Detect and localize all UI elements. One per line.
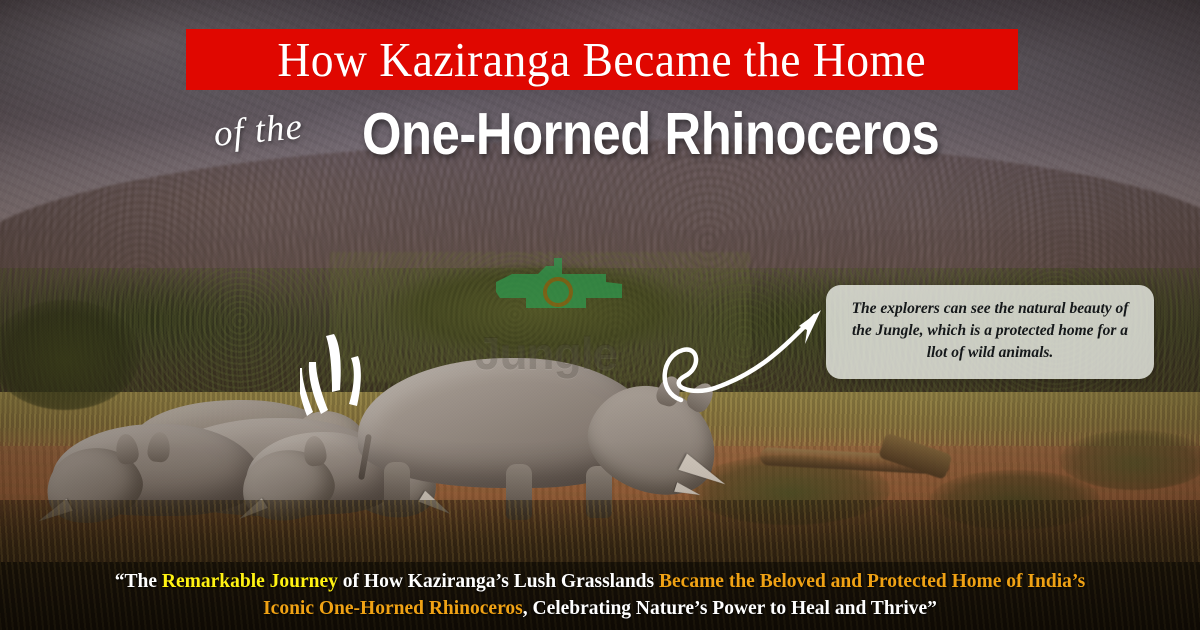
title-banner: How Kaziranga Became the Home [186, 29, 1018, 90]
caption-run-0: Iconic One-Horned Rhinoceros [263, 598, 523, 619]
claw-marks-icon [300, 328, 400, 428]
shrub-far-right [1060, 430, 1200, 490]
poster-canvas: Jungle The explorers can see the natural… [0, 0, 1200, 630]
caption-run-3: Became the Beloved and Protected Home of… [659, 571, 1085, 592]
caption-line-2: Iconic One-Horned Rhinoceros, Celebratin… [263, 596, 937, 623]
title-row-2: of the One-Horned Rhinoceros [0, 98, 1200, 170]
caption-run-2: of How Kaziranga’s Lush Grasslands [338, 571, 659, 592]
curly-arrow-icon [655, 300, 855, 410]
caption-line-1: “The Remarkable Journey of How Kaziranga… [115, 569, 1085, 596]
title-line-1: How Kaziranga Became the Home [278, 35, 927, 84]
caption-run-1: , Celebrating Nature’s Power to Heal and… [523, 598, 937, 619]
rhino-main [358, 358, 658, 488]
caption-run-1: Remarkable Journey [162, 571, 338, 592]
caption-bar: “The Remarkable Journey of How Kaziranga… [0, 562, 1200, 630]
title-script-ofthe: of the [212, 105, 305, 156]
caption-run-0: “The [115, 571, 162, 592]
title-line-2: One-Horned Rhinoceros [362, 105, 939, 164]
callout-tooltip: The explorers can see the natural beauty… [826, 285, 1154, 379]
